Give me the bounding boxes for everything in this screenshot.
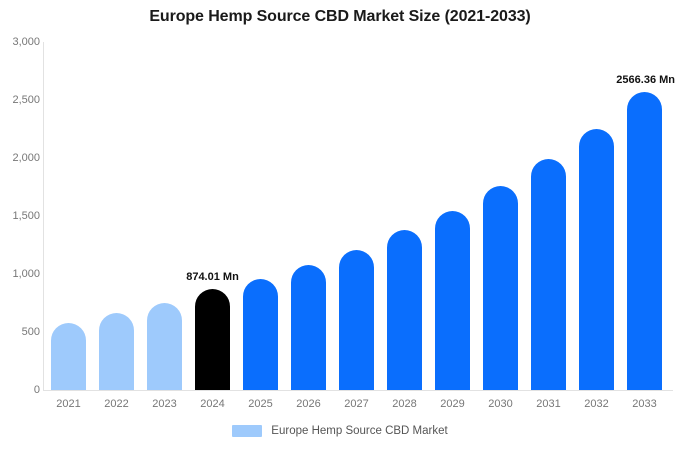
bar-group[interactable] bbox=[291, 42, 326, 390]
bar-group[interactable] bbox=[579, 42, 614, 390]
legend-label: Europe Hemp Source CBD Market bbox=[271, 425, 447, 437]
bar[interactable] bbox=[435, 211, 470, 390]
bar-group[interactable] bbox=[51, 42, 86, 390]
bar-group[interactable] bbox=[99, 42, 134, 390]
bar-chart: Europe Hemp Source CBD Market Size (2021… bbox=[0, 0, 680, 450]
bar-group[interactable]: 874.01 Mn bbox=[195, 42, 230, 390]
plot-area: 874.01 Mn2566.36 Mn bbox=[44, 42, 672, 390]
y-axis-tick-label: 1,000 bbox=[2, 268, 40, 280]
bar[interactable] bbox=[195, 289, 230, 390]
y-axis-tick-label: 2,500 bbox=[2, 94, 40, 106]
y-axis-tick-label: 3,000 bbox=[2, 36, 40, 48]
y-axis: 05001,0001,5002,0002,5003,000 bbox=[0, 0, 40, 450]
bar-group[interactable] bbox=[387, 42, 422, 390]
bar-group[interactable] bbox=[243, 42, 278, 390]
chart-title: Europe Hemp Source CBD Market Size (2021… bbox=[0, 8, 680, 26]
bar-group[interactable] bbox=[435, 42, 470, 390]
x-axis-line bbox=[43, 390, 673, 391]
y-axis-tick-label: 500 bbox=[2, 326, 40, 338]
bar[interactable] bbox=[531, 159, 566, 390]
bar[interactable] bbox=[339, 250, 374, 390]
bar-group[interactable]: 2566.36 Mn bbox=[627, 42, 662, 390]
legend-swatch-icon bbox=[232, 425, 262, 437]
bar[interactable] bbox=[387, 230, 422, 390]
bar[interactable] bbox=[579, 129, 614, 390]
bar[interactable] bbox=[243, 279, 278, 390]
bar-group[interactable] bbox=[339, 42, 374, 390]
bar[interactable] bbox=[99, 313, 134, 390]
chart-legend: Europe Hemp Source CBD Market bbox=[0, 425, 680, 437]
bar[interactable] bbox=[627, 92, 662, 390]
bar[interactable] bbox=[147, 303, 182, 390]
x-axis-tick-label: 2033 bbox=[615, 398, 675, 410]
bar-value-label: 874.01 Mn bbox=[186, 271, 239, 283]
y-axis-tick-label: 2,000 bbox=[2, 152, 40, 164]
bar[interactable] bbox=[51, 323, 86, 390]
bar-group[interactable] bbox=[147, 42, 182, 390]
bar[interactable] bbox=[291, 265, 326, 390]
bar-group[interactable] bbox=[483, 42, 518, 390]
y-axis-tick-label: 0 bbox=[2, 384, 40, 396]
y-axis-tick-label: 1,500 bbox=[2, 210, 40, 222]
bar-value-label: 2566.36 Mn bbox=[616, 74, 675, 86]
bar[interactable] bbox=[483, 186, 518, 390]
bar-group[interactable] bbox=[531, 42, 566, 390]
